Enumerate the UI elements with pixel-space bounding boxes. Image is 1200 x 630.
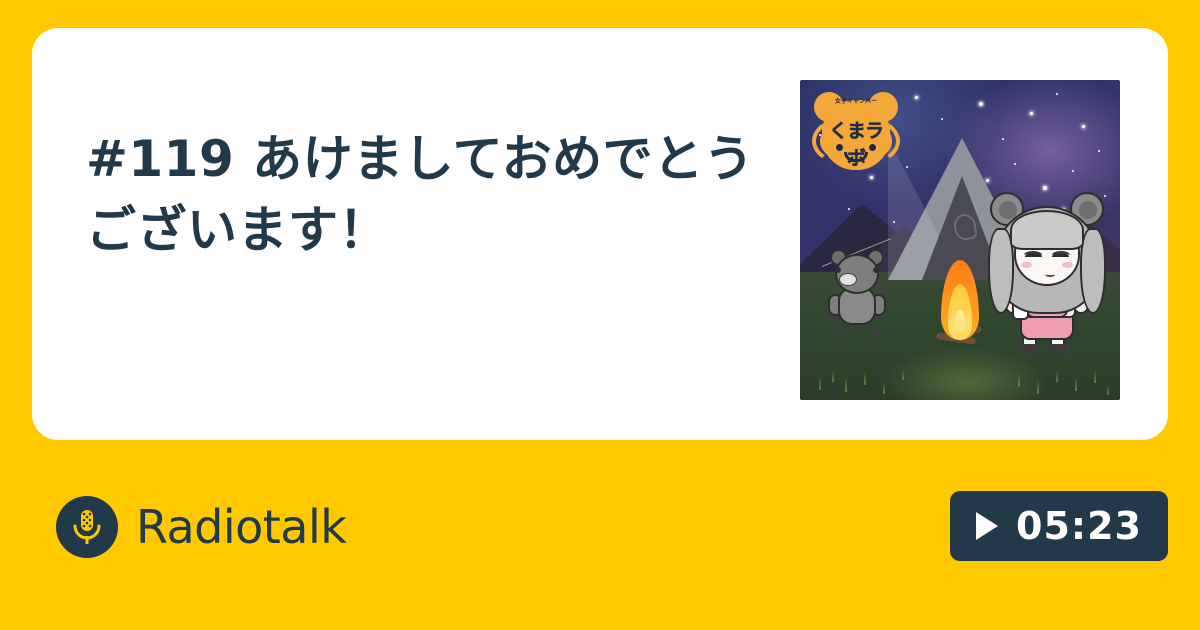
play-icon — [976, 512, 998, 540]
campfire-icon — [936, 254, 984, 340]
teddy-bear-icon — [826, 254, 888, 340]
content-card: #119 あけましておめでとうございます！ — [32, 28, 1168, 440]
brand-name: Radiotalk — [136, 500, 346, 554]
footer-bar: Radiotalk 05:23 — [0, 440, 1200, 630]
thumbnail-artwork: 女子キャンパー くまラボ — [800, 80, 1120, 400]
microphone-icon — [56, 496, 118, 558]
episode-thumbnail[interactable]: 女子キャンパー くまラボ — [800, 80, 1120, 400]
duration-label: 05:23 — [1016, 504, 1142, 548]
girl-character-icon — [988, 184, 1106, 352]
radiotalk-brand[interactable]: Radiotalk — [56, 496, 346, 558]
play-duration-button[interactable]: 05:23 — [950, 491, 1168, 561]
page-title: #119 あけましておめでとうございます！ — [86, 124, 786, 266]
kumalabo-logo: 女子キャンパー くまラボ — [806, 86, 906, 178]
kumalabo-sublabel: 女子キャンパー — [822, 96, 890, 105]
